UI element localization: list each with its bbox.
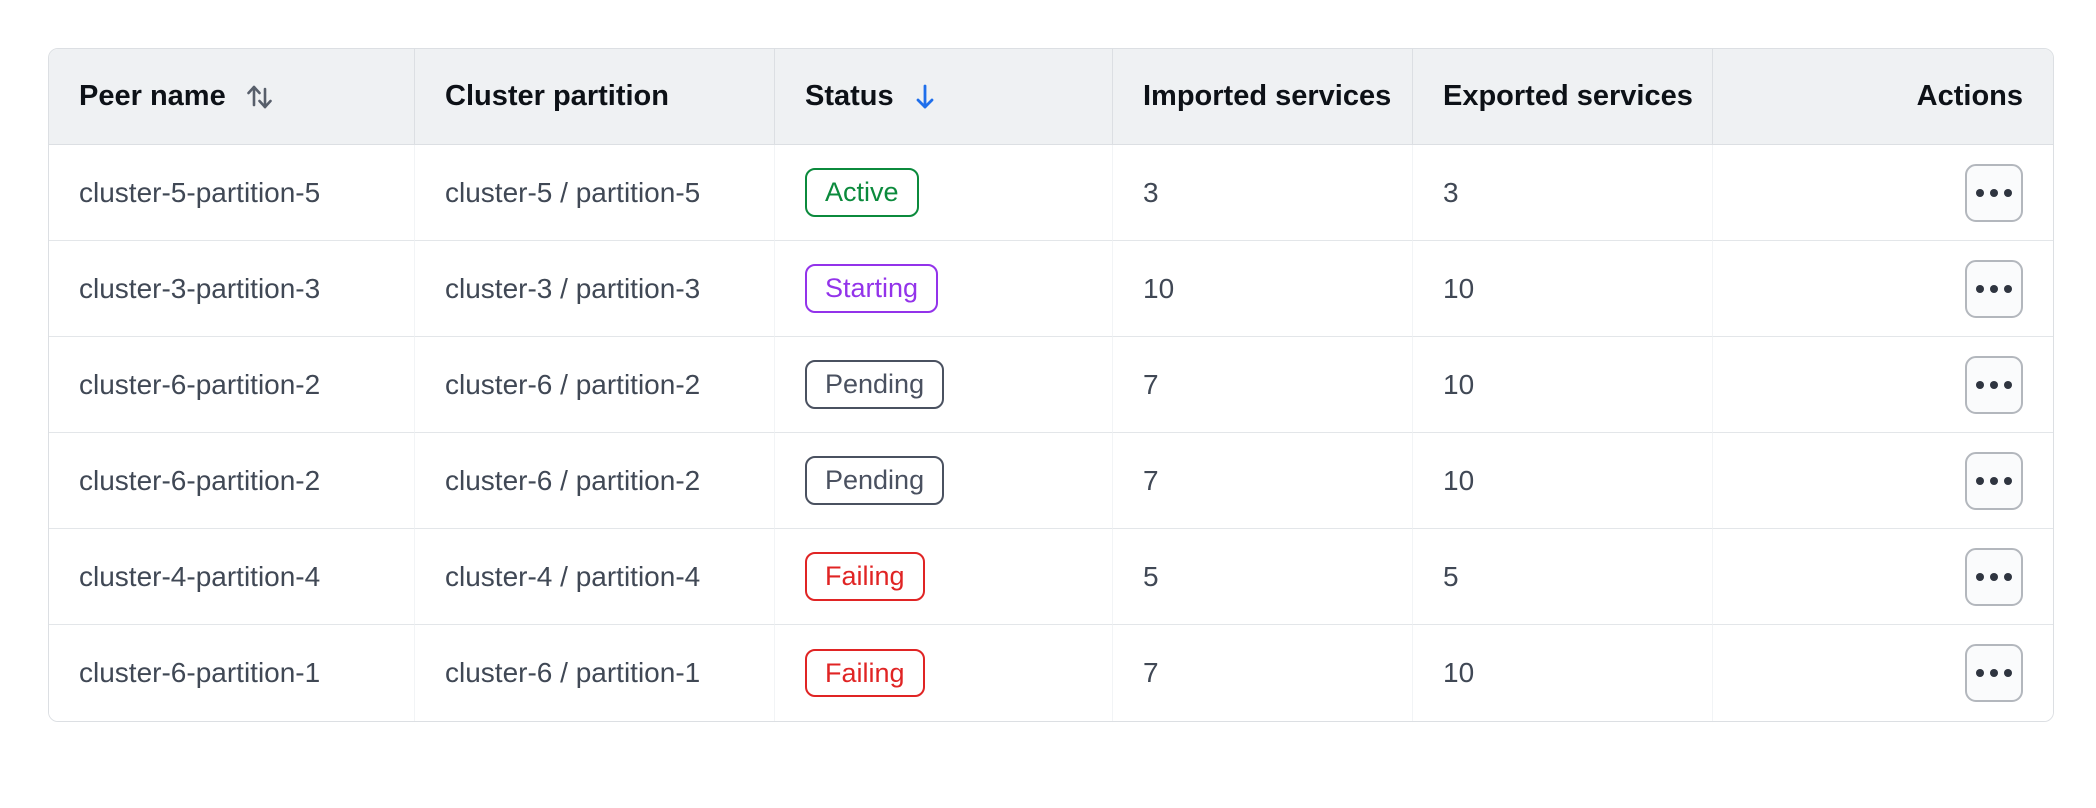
cell-peer-name: cluster-5-partition-5 xyxy=(49,145,415,241)
cell-actions xyxy=(1713,337,2053,433)
cell-imported-services: 7 xyxy=(1113,433,1413,529)
peer-name-value: cluster-4-partition-4 xyxy=(79,561,320,592)
kebab-menu-icon xyxy=(1976,669,2012,677)
kebab-menu-icon xyxy=(1976,285,2012,293)
column-header-label-cluster-partition: Cluster partition xyxy=(445,80,669,113)
cell-imported-services: 7 xyxy=(1113,337,1413,433)
peers-table: Peer name xyxy=(48,48,2054,722)
cluster-partition-value: cluster-5 / partition-5 xyxy=(445,177,700,208)
exported-services-value: 5 xyxy=(1443,561,1459,592)
cell-peer-name: cluster-3-partition-3 xyxy=(49,241,415,337)
peer-name-value: cluster-3-partition-3 xyxy=(79,273,320,304)
cell-imported-services: 10 xyxy=(1113,241,1413,337)
cell-imported-services: 5 xyxy=(1113,529,1413,625)
cell-actions xyxy=(1713,529,2053,625)
cell-status: Failing xyxy=(775,625,1113,721)
status-badge: Active xyxy=(805,168,919,216)
cell-imported-services: 3 xyxy=(1113,145,1413,241)
cell-peer-name: cluster-4-partition-4 xyxy=(49,529,415,625)
status-badge: Failing xyxy=(805,649,925,697)
kebab-menu-icon xyxy=(1976,381,2012,389)
column-header-status[interactable]: Status xyxy=(775,49,1113,145)
imported-services-value: 5 xyxy=(1143,561,1159,592)
cell-cluster-partition: cluster-6 / partition-2 xyxy=(415,337,775,433)
sort-both-icon[interactable] xyxy=(242,79,276,115)
kebab-menu-icon xyxy=(1976,189,2012,197)
imported-services-value: 7 xyxy=(1143,465,1159,496)
table-row[interactable]: cluster-6-partition-2 cluster-6 / partit… xyxy=(49,337,2053,433)
column-header-label-exported-services: Exported services xyxy=(1443,80,1693,113)
cell-imported-services: 7 xyxy=(1113,625,1413,721)
status-badge: Starting xyxy=(805,264,938,312)
exported-services-value: 10 xyxy=(1443,657,1474,688)
cell-status: Failing xyxy=(775,529,1113,625)
cluster-partition-value: cluster-4 / partition-4 xyxy=(445,561,700,592)
arrow-down-icon[interactable] xyxy=(910,80,940,114)
cluster-partition-value: cluster-3 / partition-3 xyxy=(445,273,700,304)
column-header-label-peer-name: Peer name xyxy=(79,80,226,113)
cell-cluster-partition: cluster-6 / partition-1 xyxy=(415,625,775,721)
table-row[interactable]: cluster-4-partition-4 cluster-4 / partit… xyxy=(49,529,2053,625)
cell-status: Pending xyxy=(775,337,1113,433)
imported-services-value: 7 xyxy=(1143,369,1159,400)
table-header: Peer name xyxy=(49,49,2053,145)
peer-name-value: cluster-6-partition-1 xyxy=(79,657,320,688)
row-actions-menu-button[interactable] xyxy=(1965,356,2023,414)
kebab-menu-icon xyxy=(1976,477,2012,485)
imported-services-value: 3 xyxy=(1143,177,1159,208)
cell-exported-services: 10 xyxy=(1413,625,1713,721)
cell-status: Pending xyxy=(775,433,1113,529)
cell-actions xyxy=(1713,241,2053,337)
cluster-partition-value: cluster-6 / partition-1 xyxy=(445,657,700,688)
column-header-label-status: Status xyxy=(805,80,894,113)
cell-peer-name: cluster-6-partition-1 xyxy=(49,625,415,721)
exported-services-value: 10 xyxy=(1443,369,1474,400)
cluster-partition-value: cluster-6 / partition-2 xyxy=(445,369,700,400)
cell-peer-name: cluster-6-partition-2 xyxy=(49,433,415,529)
status-badge: Pending xyxy=(805,456,944,504)
cell-actions xyxy=(1713,433,2053,529)
table-row[interactable]: cluster-5-partition-5 cluster-5 / partit… xyxy=(49,145,2053,241)
column-header-label-actions: Actions xyxy=(1917,80,2023,113)
column-header-cluster-partition[interactable]: Cluster partition xyxy=(415,49,775,145)
exported-services-value: 10 xyxy=(1443,465,1474,496)
cluster-partition-value: cluster-6 / partition-2 xyxy=(445,465,700,496)
cell-cluster-partition: cluster-4 / partition-4 xyxy=(415,529,775,625)
peers-table-page: Peer name xyxy=(0,0,2096,722)
table-row[interactable]: cluster-3-partition-3 cluster-3 / partit… xyxy=(49,241,2053,337)
cell-exported-services: 10 xyxy=(1413,241,1713,337)
cell-exported-services: 5 xyxy=(1413,529,1713,625)
table-body: cluster-5-partition-5 cluster-5 / partit… xyxy=(49,145,2053,721)
peer-name-value: cluster-6-partition-2 xyxy=(79,465,320,496)
row-actions-menu-button[interactable] xyxy=(1965,644,2023,702)
column-header-label-imported-services: Imported services xyxy=(1143,80,1391,113)
table-header-row: Peer name xyxy=(49,49,2053,145)
cell-cluster-partition: cluster-6 / partition-2 xyxy=(415,433,775,529)
cell-actions xyxy=(1713,625,2053,721)
row-actions-menu-button[interactable] xyxy=(1965,260,2023,318)
kebab-menu-icon xyxy=(1976,573,2012,581)
cell-exported-services: 10 xyxy=(1413,433,1713,529)
status-badge: Failing xyxy=(805,552,925,600)
cell-cluster-partition: cluster-3 / partition-3 xyxy=(415,241,775,337)
cell-cluster-partition: cluster-5 / partition-5 xyxy=(415,145,775,241)
cell-peer-name: cluster-6-partition-2 xyxy=(49,337,415,433)
exported-services-value: 3 xyxy=(1443,177,1459,208)
row-actions-menu-button[interactable] xyxy=(1965,164,2023,222)
cell-status: Active xyxy=(775,145,1113,241)
row-actions-menu-button[interactable] xyxy=(1965,548,2023,606)
row-actions-menu-button[interactable] xyxy=(1965,452,2023,510)
table-row[interactable]: cluster-6-partition-2 cluster-6 / partit… xyxy=(49,433,2053,529)
imported-services-value: 10 xyxy=(1143,273,1174,304)
cell-exported-services: 3 xyxy=(1413,145,1713,241)
status-badge: Pending xyxy=(805,360,944,408)
exported-services-value: 10 xyxy=(1443,273,1474,304)
column-header-actions: Actions xyxy=(1713,49,2053,145)
column-header-exported-services[interactable]: Exported services xyxy=(1413,49,1713,145)
column-header-imported-services[interactable]: Imported services xyxy=(1113,49,1413,145)
peer-name-value: cluster-6-partition-2 xyxy=(79,369,320,400)
cell-actions xyxy=(1713,145,2053,241)
peer-name-value: cluster-5-partition-5 xyxy=(79,177,320,208)
imported-services-value: 7 xyxy=(1143,657,1159,688)
column-header-peer-name[interactable]: Peer name xyxy=(49,49,415,145)
cell-status: Starting xyxy=(775,241,1113,337)
cell-exported-services: 10 xyxy=(1413,337,1713,433)
table-row[interactable]: cluster-6-partition-1 cluster-6 / partit… xyxy=(49,625,2053,721)
